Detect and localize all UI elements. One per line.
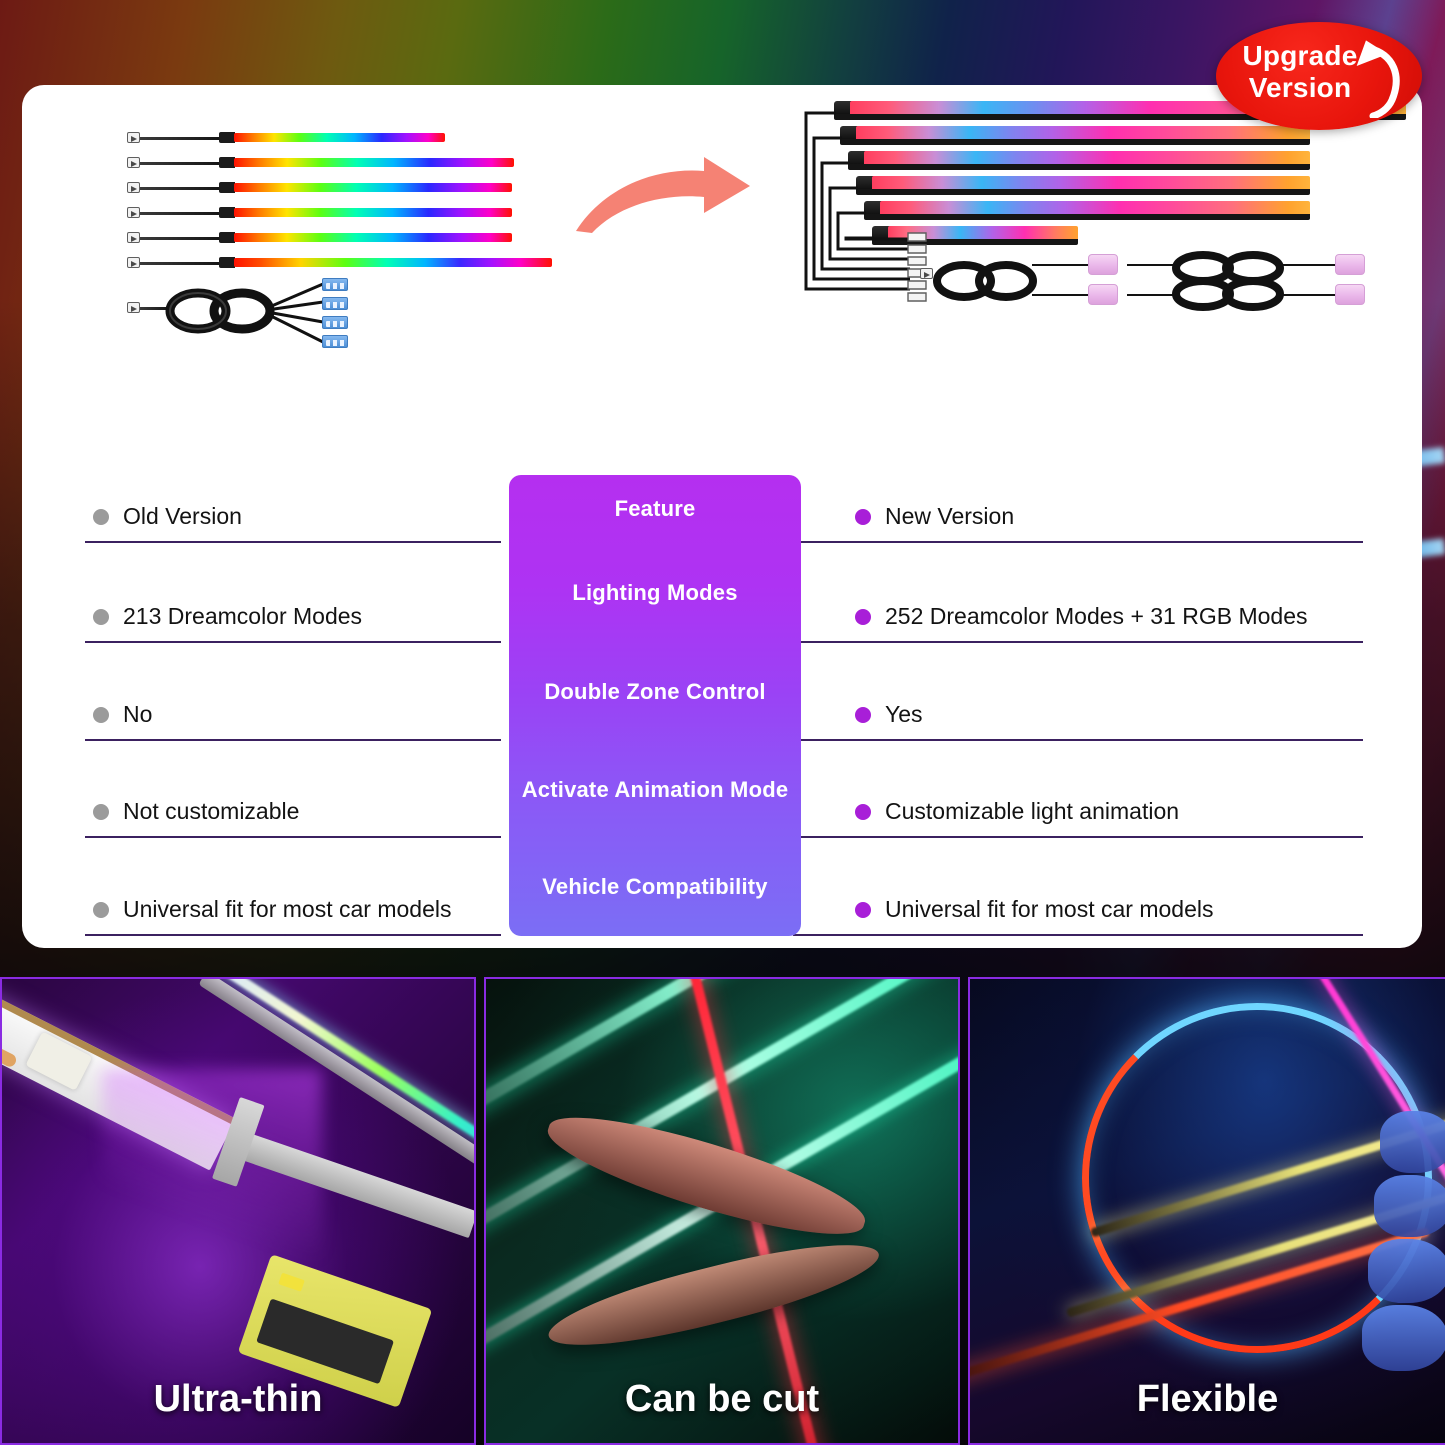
feature-panels: Ultra-thin Can be cut xyxy=(0,977,1445,1445)
connector-module xyxy=(322,278,348,291)
feature-panel-flexible: Flexible xyxy=(968,977,1445,1445)
coiled-cable-icon xyxy=(1171,250,1287,312)
row-new-cell: 252 Dreamcolor Modes + 31 RGB Modes xyxy=(793,603,1363,643)
row-new-value: 252 Dreamcolor Modes + 31 RGB Modes xyxy=(885,603,1308,630)
product-diagram xyxy=(22,85,1422,475)
plug-icon xyxy=(127,302,140,313)
wire-terminal-tips-icon xyxy=(904,229,934,305)
feature-cell-animation: Activate Animation Mode xyxy=(509,741,801,838)
feature-panel-can-be-cut: Can be cut xyxy=(484,977,960,1445)
connector-module xyxy=(322,316,348,329)
connector-module xyxy=(1335,284,1365,305)
connector-module xyxy=(322,297,348,310)
lead-wire xyxy=(140,162,223,165)
harness-fanout-icon xyxy=(265,278,327,350)
connector-module xyxy=(322,335,348,348)
new-version-dot-icon xyxy=(855,509,871,525)
upgrade-version-badge: Upgrade Version xyxy=(1216,22,1422,130)
header-old-label: Old Version xyxy=(123,503,242,530)
feature-column: Feature Lighting Modes Double Zone Contr… xyxy=(509,475,801,936)
row-old-value: 213 Dreamcolor Modes xyxy=(123,603,362,630)
strip-end-cap xyxy=(219,182,235,193)
finger xyxy=(1380,1111,1445,1173)
lead-wire xyxy=(140,212,223,215)
lead-wire xyxy=(140,137,223,140)
row-old-value: Not customizable xyxy=(123,798,299,825)
new-version-dot-icon xyxy=(855,902,871,918)
row-old-cell: 213 Dreamcolor Modes xyxy=(85,603,501,643)
infographic-root: Upgrade Version xyxy=(0,0,1445,1445)
plug-icon xyxy=(127,232,140,243)
row-new-cell: Customizable light animation xyxy=(793,798,1363,838)
panel-caption: Can be cut xyxy=(486,1378,958,1421)
old-version-dot-icon xyxy=(93,804,109,820)
old-version-dot-icon xyxy=(93,707,109,723)
feature-cell-lighting: Lighting Modes xyxy=(509,543,801,643)
panel-caption: Ultra-thin xyxy=(2,1378,474,1421)
feature-cell-zone: Double Zone Control xyxy=(509,643,801,741)
row-new-value: Customizable light animation xyxy=(885,798,1179,825)
row-old-value: Universal fit for most car models xyxy=(123,896,451,923)
plug-icon xyxy=(127,257,140,268)
plug-icon xyxy=(127,132,140,143)
row-old-cell: No xyxy=(85,701,501,741)
row-old-value: No xyxy=(123,701,152,728)
comparison-card: Feature Lighting Modes Double Zone Contr… xyxy=(22,85,1422,948)
coiled-cable-icon xyxy=(165,280,275,342)
header-old-version: Old Version xyxy=(85,503,501,543)
new-version-kit xyxy=(792,93,1412,443)
lead-wire xyxy=(140,237,223,240)
curved-arrow-right-icon xyxy=(570,153,756,237)
feature-cell-vehicle: Vehicle Compatibility xyxy=(509,838,801,936)
lead-wire xyxy=(140,262,223,265)
row-old-cell: Universal fit for most car models xyxy=(85,896,501,936)
row-new-value: Yes xyxy=(885,701,923,728)
connector-module xyxy=(1335,254,1365,275)
finger xyxy=(1362,1305,1445,1371)
lead-wire xyxy=(140,187,223,190)
strip-end-cap xyxy=(219,132,235,143)
strip-end-cap xyxy=(219,232,235,243)
feature-panel-ultra-thin: Ultra-thin xyxy=(0,977,476,1445)
new-version-dot-icon xyxy=(855,609,871,625)
old-version-dot-icon xyxy=(93,609,109,625)
row-new-cell: Universal fit for most car models xyxy=(793,896,1363,936)
plug-icon xyxy=(127,157,140,168)
old-version-dot-icon xyxy=(93,509,109,525)
plug-icon xyxy=(127,207,140,218)
strip-end-cap xyxy=(219,207,235,218)
connector-module xyxy=(1088,254,1118,275)
strip-end-cap xyxy=(219,257,235,268)
old-version-kit xyxy=(117,110,537,410)
coiled-cable-icon xyxy=(932,252,1038,310)
row-new-cell: Yes xyxy=(793,701,1363,741)
feature-header-cell: Feature xyxy=(509,475,801,543)
old-version-dot-icon xyxy=(93,902,109,918)
row-old-cell: Not customizable xyxy=(85,798,501,838)
panel-caption: Flexible xyxy=(970,1378,1445,1421)
new-version-dot-icon xyxy=(855,707,871,723)
finger xyxy=(1374,1175,1445,1237)
curved-arrow-up-icon xyxy=(1346,38,1408,118)
header-new-label: New Version xyxy=(885,503,1014,530)
header-new-version: New Version xyxy=(793,503,1363,543)
strip-end-cap xyxy=(219,157,235,168)
row-new-value: Universal fit for most car models xyxy=(885,896,1213,923)
new-version-dot-icon xyxy=(855,804,871,820)
connector-module xyxy=(1088,284,1118,305)
plug-icon xyxy=(127,182,140,193)
wire-bundle-icon xyxy=(792,107,922,297)
finger xyxy=(1368,1239,1445,1303)
comparison-table: Feature Lighting Modes Double Zone Contr… xyxy=(85,475,1363,936)
